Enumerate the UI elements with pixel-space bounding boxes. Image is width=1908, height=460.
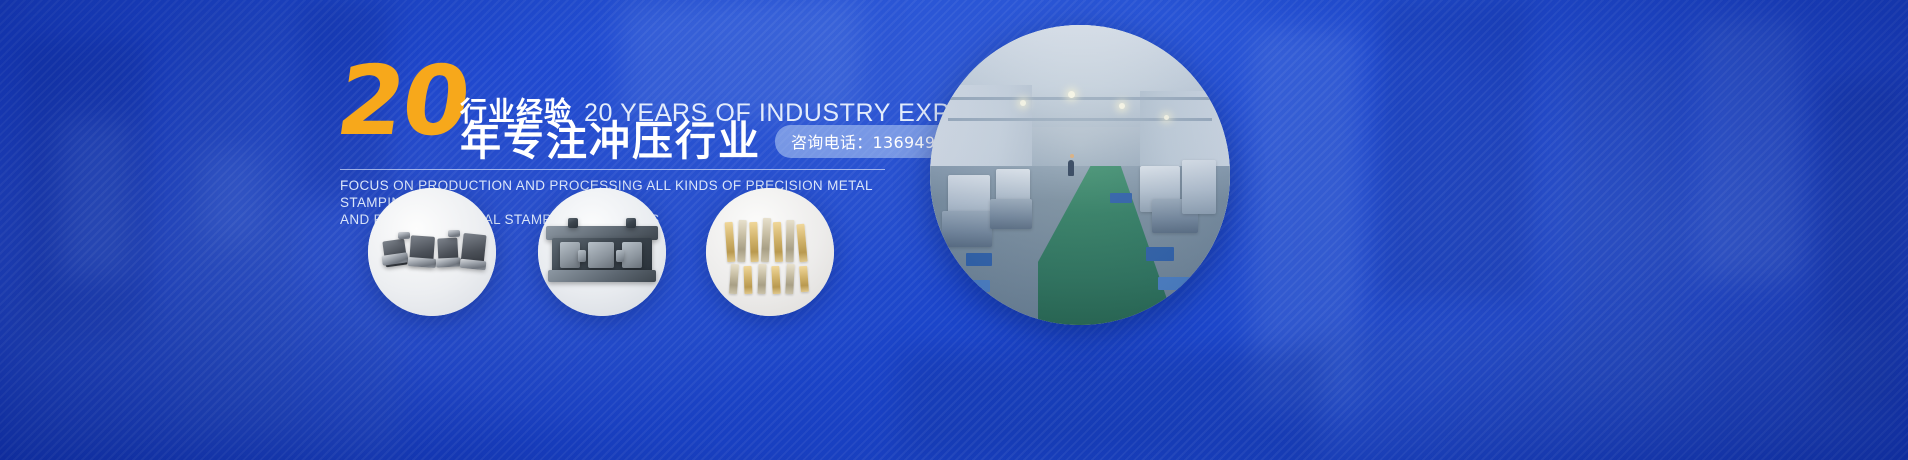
headline-cn-stamping-industry: 年专注冲压行业 [460,118,761,164]
product-3-backdrop [706,188,834,316]
product-1-backdrop [368,188,496,316]
product-2-backdrop [538,188,666,316]
promo-banner: 20 行业经验 20 YEARS OF INDUSTRY EXPERIENCE … [0,0,1908,460]
headline-divider [340,169,885,170]
big-number-20: 20 [332,58,474,144]
headline-line-2: 年专注冲压行业 咨询电话：13694922701 [460,118,1004,164]
factory-photo-grade [930,25,1230,325]
product-photo-metal-pins [706,188,834,316]
product-photo-connectors [368,188,496,316]
factory-workshop-photo [930,25,1230,325]
product-photo-stamping-mold [538,188,666,316]
headline-block: 20 行业经验 20 YEARS OF INDUSTRY EXPERIENCE … [338,40,898,180]
